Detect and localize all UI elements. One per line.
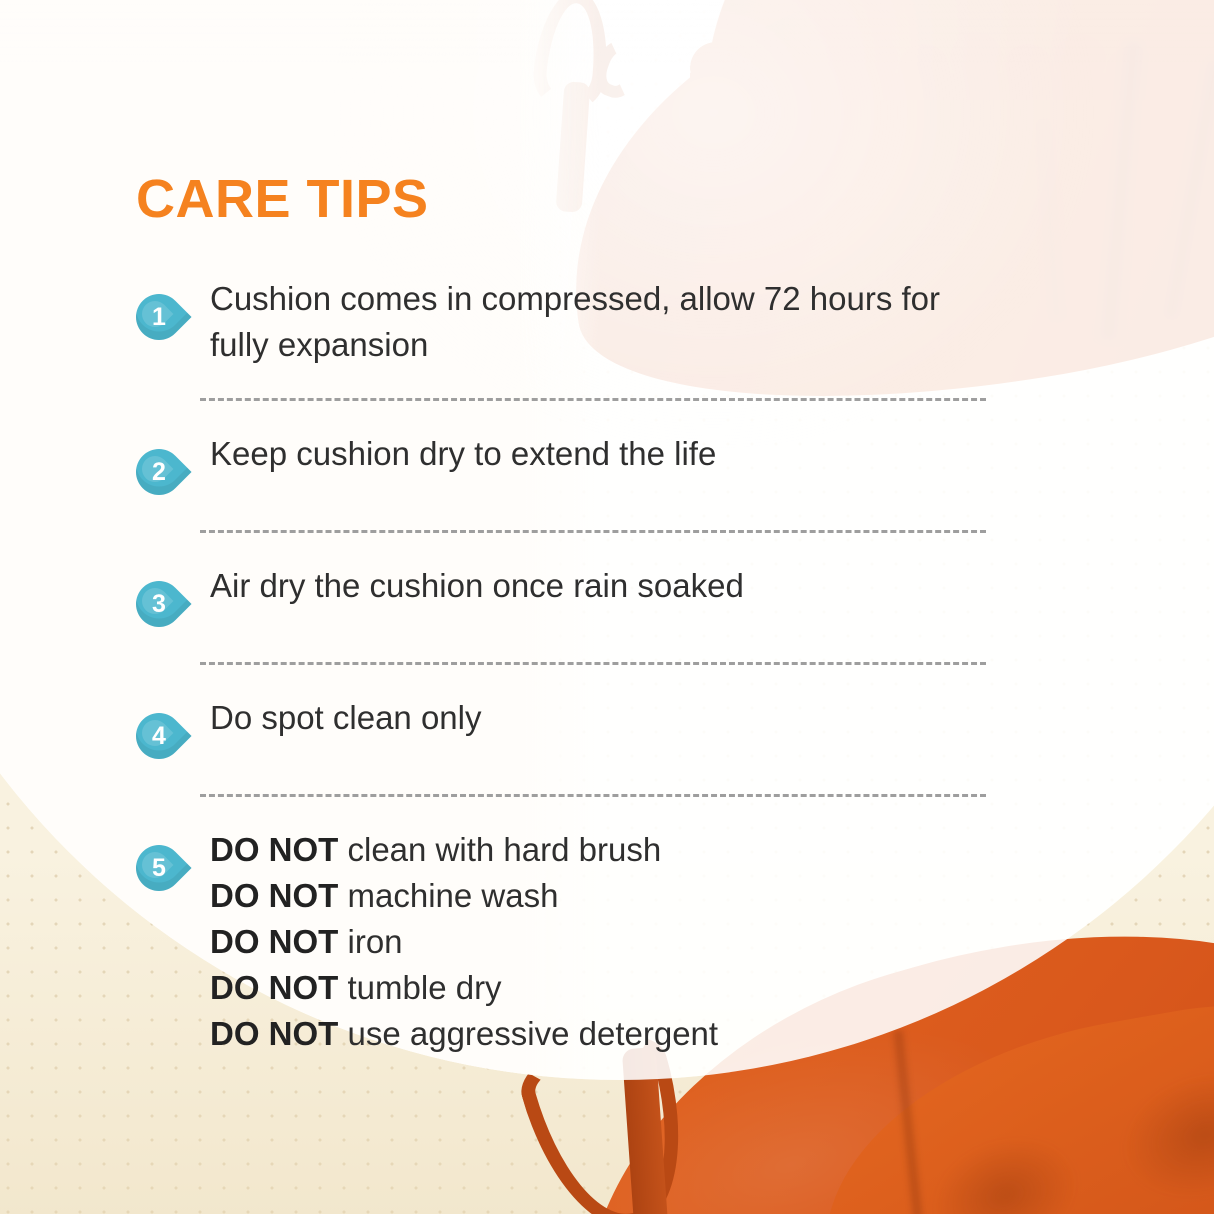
care-tip-number-1: 1 — [136, 294, 182, 340]
do-not-label: DO NOT — [210, 1015, 338, 1052]
care-tip-number-4: 4 — [136, 713, 182, 759]
do-not-action: clean with hard brush — [338, 831, 661, 868]
do-not-action: iron — [338, 923, 402, 960]
spacer — [0, 401, 1214, 431]
spacer — [0, 797, 1214, 827]
do-not-label: DO NOT — [210, 923, 338, 960]
do-not-line: DO NOT machine wash — [210, 873, 718, 919]
do-not-label: DO NOT — [210, 877, 338, 914]
spacer — [0, 533, 1214, 563]
spacer — [0, 500, 1214, 530]
care-tip-number-5: 5 — [136, 845, 182, 891]
care-tip-text-2: Keep cushion dry to extend the life — [210, 431, 716, 477]
do-not-line: DO NOT tumble dry — [210, 965, 718, 1011]
do-not-line: DO NOT iron — [210, 919, 718, 965]
care-tip-item-5: 5 DO NOT clean with hard brush DO NOT ma… — [0, 827, 1214, 1057]
care-tip-number-3: 3 — [136, 581, 182, 627]
care-tip-text-5: DO NOT clean with hard brush DO NOT mach… — [210, 827, 718, 1057]
care-tip-text-4: Do spot clean only — [210, 695, 482, 741]
care-tip-item-1: 1 Cushion comes in compressed, allow 72 … — [0, 276, 1214, 368]
care-tip-item-2: 2 Keep cushion dry to extend the life — [0, 431, 1214, 500]
spacer — [0, 665, 1214, 695]
do-not-action: use aggressive detergent — [338, 1015, 718, 1052]
care-tip-item-3: 3 Air dry the cushion once rain soaked — [0, 563, 1214, 632]
water-drop-badge-icon: 2 — [136, 443, 186, 500]
water-drop-badge-icon: 5 — [136, 839, 186, 896]
care-tips-content: CARE TIPS 1 Cushion comes in compressed,… — [0, 0, 1214, 1214]
spacer — [0, 632, 1214, 662]
water-drop-badge-icon: 1 — [136, 288, 186, 345]
do-not-line: DO NOT use aggressive detergent — [210, 1011, 718, 1057]
do-not-label: DO NOT — [210, 969, 338, 1006]
tip-divider-2 — [200, 530, 986, 533]
care-tip-item-4: 4 Do spot clean only — [0, 695, 1214, 764]
do-not-action: tumble dry — [338, 969, 501, 1006]
do-not-line: DO NOT clean with hard brush — [210, 827, 718, 873]
water-drop-badge-icon: 4 — [136, 707, 186, 764]
care-tips-infographic: CARE TIPS 1 Cushion comes in compressed,… — [0, 0, 1214, 1214]
care-tips-list: 1 Cushion comes in compressed, allow 72 … — [0, 276, 1214, 1057]
tip-divider-3 — [200, 662, 986, 665]
page-title: CARE TIPS — [136, 168, 429, 230]
care-tip-text-1: Cushion comes in compressed, allow 72 ho… — [210, 276, 1000, 368]
spacer — [0, 764, 1214, 794]
care-tip-number-2: 2 — [136, 449, 182, 495]
spacer — [0, 368, 1214, 398]
do-not-action: machine wash — [338, 877, 558, 914]
do-not-label: DO NOT — [210, 831, 338, 868]
water-drop-badge-icon: 3 — [136, 575, 186, 632]
tip-divider-4 — [200, 794, 986, 797]
care-tip-text-3: Air dry the cushion once rain soaked — [210, 563, 744, 609]
tip-divider-1 — [200, 398, 986, 401]
